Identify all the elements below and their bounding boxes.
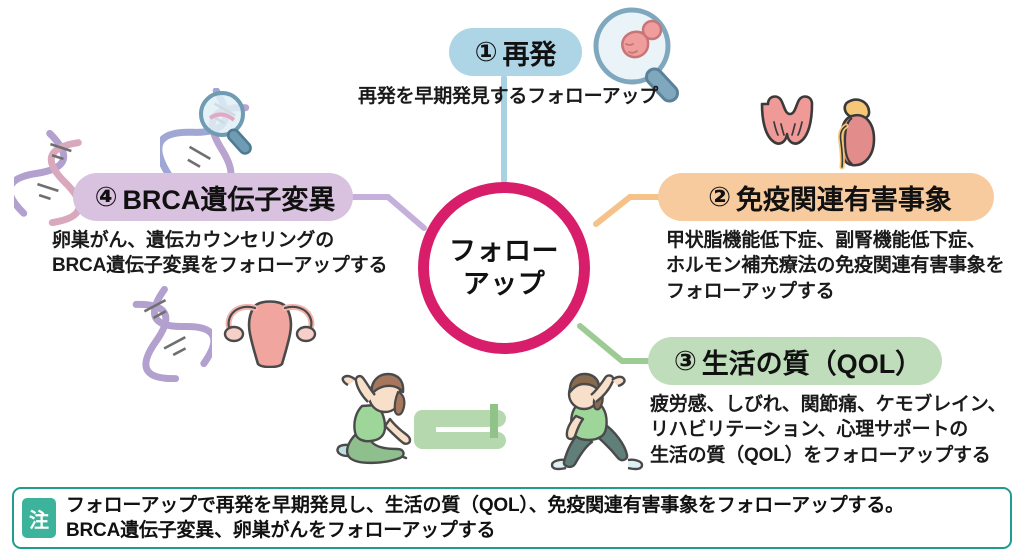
branch-body-line: ホルモン補充療法の免疫関連有害事象を [666,253,1004,278]
branch-title-1: 再発 [502,33,556,72]
thyroid-gland-icon [762,97,812,144]
note-text-line1: フォローアップで再発を早期発見し、生活の質（QOL）、免疫関連有害事象をフォロー… [66,493,904,518]
branch-pill-recurrence[interactable]: ① 再発 [449,28,582,76]
uterus-ovaries-icon [218,292,322,368]
branch-body-line: 卵巣がん、遺伝カウンセリングの [52,228,387,253]
branch-body-line: 生活の質（QOL）をフォローアップする [650,443,1006,468]
footer-note: 注 フォローアップで再発を早期発見し、生活の質（QOL）、免疫関連有害事象をフォ… [12,487,1012,549]
center-hub-label-line1: フォロー [449,236,559,266]
branch-number-3: ③ [674,346,697,377]
connector-irae [596,197,664,224]
connector-brca [350,197,424,228]
branch-number-4: ④ [95,182,118,213]
branch-body-line: 甲状脂機能低下症、副腎機能低下症、 [666,228,1004,253]
kidney-adrenal-icon [841,100,874,167]
branch-body-line: フォローアップする [666,279,1004,304]
branch-body-line: 疲労感、しびれ、関節痛、ケモブレイン、 [650,392,1006,417]
branch-body-line: リハビリテーション、心理サポートの [650,417,1006,442]
center-hub-label-line2: アップ [463,269,546,299]
center-hub-label: フォロー アップ [449,235,559,301]
person-stretching-lunge-icon [540,372,644,478]
note-text-line2: BRCA遺伝子変異、卵巣がんをフォローアップする [66,518,904,543]
thyroid-kidney-adrenal-icon [756,90,886,172]
branch-body-line: BRCA遺伝子変異をフォローアップする [52,253,387,278]
branch-body-qol: 疲労感、しびれ、関節痛、ケモブレイン、 リハビリテーション、心理サポートの 生活… [650,392,1006,468]
branch-pill-irae[interactable]: ② 免疫関連有害事象 [658,173,994,221]
branch-body-line: 再発を早期発見するフォローアップ [358,84,658,109]
branch-body-brca: 卵巣がん、遺伝カウンセリングの BRCA遺伝子変異をフォローアップする [52,228,387,279]
branch-pill-brca[interactable]: ④ BRCA遺伝子変異 [73,173,353,221]
person-stretching-seated-icon [332,372,432,478]
connector-qol [580,326,654,361]
branch-body-irae: 甲状脂機能低下症、副腎機能低下症、 ホルモン補充療法の免疫関連有害事象を フォロ… [666,228,1004,304]
dna-helix-icon [14,130,88,226]
branch-title-2: 免疫関連有害事象 [736,178,952,217]
note-badge: 注 [22,498,56,538]
branch-number-1: ① [475,37,498,68]
infographic-canvas: フォロー アップ ① 再発 再発を早期発見するフォローアップ ② 免疫関連有害事… [0,0,1024,559]
dna-helix-icon [128,286,212,382]
note-text: フォローアップで再発を早期発見し、生活の質（QOL）、免疫関連有害事象をフォロー… [66,493,904,544]
branch-number-2: ② [708,182,731,213]
branch-title-3: 生活の質（QOL） [702,342,923,381]
center-hub: フォロー アップ [418,182,590,354]
branch-title-4: BRCA遺伝子変異 [122,178,335,217]
branch-body-recurrence: 再発を早期発見するフォローアップ [358,84,658,109]
branch-pill-qol[interactable]: ③ 生活の質（QOL） [648,337,942,385]
